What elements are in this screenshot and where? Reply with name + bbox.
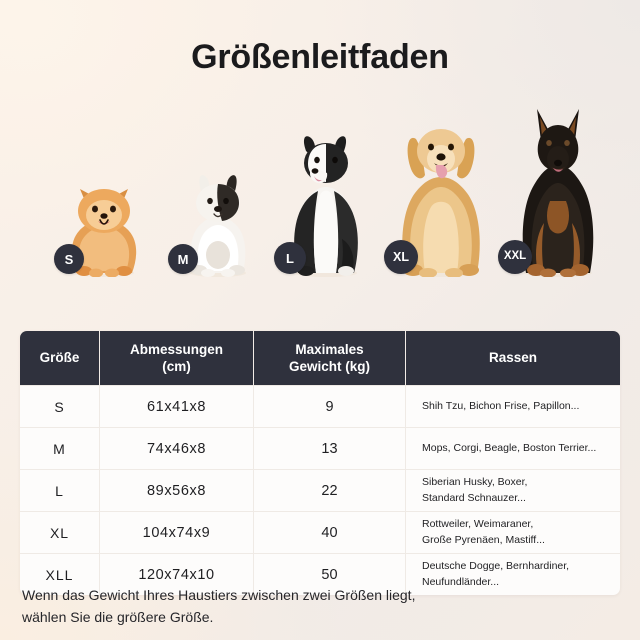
cell-breeds: Mops, Corgi, Beagle, Boston Terrier...	[406, 428, 620, 469]
cell-breeds-line1: Rottweiler, Weimaraner,	[422, 517, 545, 532]
page-title: Größenleitfaden	[0, 38, 640, 77]
cell-weight: 13	[254, 428, 406, 469]
size-table: Größe Abmessungen (cm) Maximales Gewicht…	[20, 331, 620, 595]
cell-breeds-line2: Standard Schnauzer...	[422, 491, 527, 506]
table-row: XL 104x74x9 40 Rottweiler, Weimaraner, G…	[20, 511, 620, 553]
sizing-note: Wenn das Gewicht Ihres Haustiers zwische…	[22, 585, 612, 628]
table-header-size: Größe	[20, 331, 100, 385]
table-header-weight-unit: Gewicht (kg)	[289, 358, 370, 375]
size-guide-page: Größenleitfaden	[0, 0, 640, 640]
cell-dimensions: 74x46x8	[100, 428, 254, 469]
sizing-note-line1: Wenn das Gewicht Ihres Haustiers zwische…	[22, 585, 612, 607]
dog-slot-l: L	[266, 120, 386, 280]
table-header-dimensions-unit: (cm)	[130, 358, 223, 375]
size-badge-xl: XL	[384, 240, 418, 274]
table-header-breeds: Rassen	[406, 331, 620, 385]
cell-weight: 40	[254, 512, 406, 553]
table-row: M 74x46x8 13 Mops, Corgi, Beagle, Boston…	[20, 427, 620, 469]
cell-breeds-line1: Mops, Corgi, Beagle, Boston Terrier...	[422, 441, 596, 456]
dog-slot-s: S	[44, 160, 164, 280]
cell-size: XL	[20, 512, 100, 553]
table-header-dimensions: Abmessungen (cm)	[100, 331, 254, 385]
cell-breeds-line1: Deutsche Dogge, Bernhardiner,	[422, 559, 569, 574]
cell-dimensions: 61x41x8	[100, 386, 254, 427]
dog-slot-xl: XL	[378, 108, 503, 280]
table-row: S 61x41x8 9 Shih Tzu, Bichon Frise, Papi…	[20, 385, 620, 427]
cell-breeds: Siberian Husky, Boxer, Standard Schnauze…	[406, 470, 620, 511]
size-badge-xxl: XXL	[498, 240, 532, 274]
dog-slot-xxl: XXL	[494, 100, 622, 280]
cell-size: M	[20, 428, 100, 469]
dog-slot-m: M	[158, 145, 278, 280]
size-badge-m: M	[168, 244, 198, 274]
size-badge-s: S	[54, 244, 84, 274]
cell-weight: 9	[254, 386, 406, 427]
cell-size: S	[20, 386, 100, 427]
table-header-weight-label: Maximales	[289, 341, 370, 358]
cell-breeds-line1: Siberian Husky, Boxer,	[422, 475, 527, 490]
sizing-note-line2: wählen Sie die größere Größe.	[22, 607, 612, 629]
cell-breeds: Shih Tzu, Bichon Frise, Papillon...	[406, 386, 620, 427]
cell-weight: 22	[254, 470, 406, 511]
cell-dimensions: 104x74x9	[100, 512, 254, 553]
cell-breeds-line1: Shih Tzu, Bichon Frise, Papillon...	[422, 399, 579, 414]
cell-size: L	[20, 470, 100, 511]
table-header-size-label: Größe	[40, 349, 80, 366]
cell-breeds: Rottweiler, Weimaraner, Große Pyrenäen, …	[406, 512, 620, 553]
table-row: L 89x56x8 22 Siberian Husky, Boxer, Stan…	[20, 469, 620, 511]
table-header-breeds-label: Rassen	[489, 349, 537, 366]
cell-dimensions: 89x56x8	[100, 470, 254, 511]
table-header-dimensions-label: Abmessungen	[130, 341, 223, 358]
cell-breeds-line2: Große Pyrenäen, Mastiff...	[422, 533, 545, 548]
size-badge-l: L	[274, 242, 306, 274]
dog-size-illustrations: S	[26, 100, 622, 280]
table-header-row: Größe Abmessungen (cm) Maximales Gewicht…	[20, 331, 620, 385]
table-header-weight: Maximales Gewicht (kg)	[254, 331, 406, 385]
